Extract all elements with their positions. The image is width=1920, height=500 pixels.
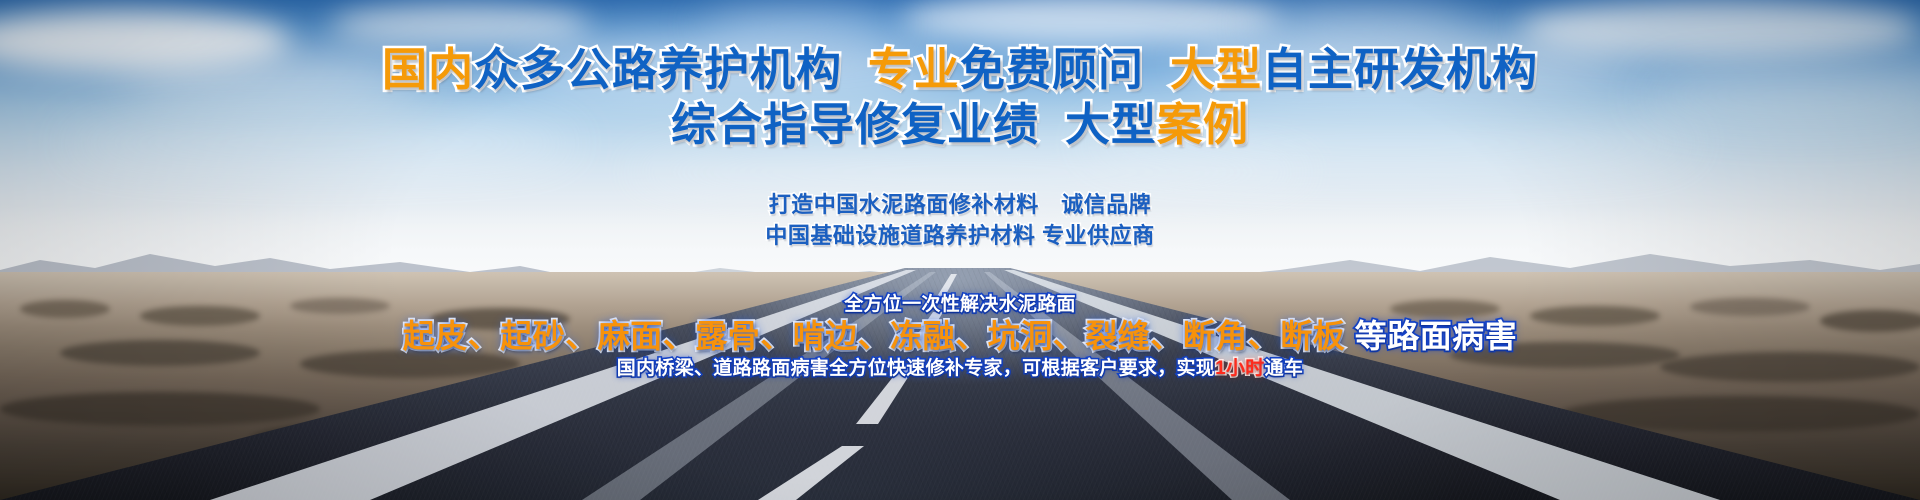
subhead-gap-1 xyxy=(1039,192,1062,217)
cloud-3 xyxy=(330,4,590,46)
road-text-seg-3b: 通车 xyxy=(1265,358,1304,379)
subhead-line-2: 中国基础设施道路养护材料 专业供应商 xyxy=(0,221,1920,251)
headline-seg-zonghe: 综合指导修复业绩 xyxy=(671,99,1039,150)
cloud-8 xyxy=(1250,8,1470,42)
headline-seg-zhongduo: 众多公路养护机构 xyxy=(474,44,842,95)
subhead-seg-1a: 打造中国水泥路面修补材料 xyxy=(769,192,1039,217)
headline-seg-anli: 案例 xyxy=(1157,99,1249,150)
headline-seg-mianfei: 免费顾问 xyxy=(960,44,1144,95)
headline-seg-zhuanye: 专业 xyxy=(868,44,960,95)
road-text-line-2-diseases: 起皮、起砂、麻面、露骨、啃边、冻融、坑洞、裂缝、断角、断板 等路面病害 xyxy=(0,315,1920,357)
subhead-line-1: 打造中国水泥路面修补材料 诚信品牌 xyxy=(0,190,1920,220)
headline-line-2: 综合指导修复业绩大型案例 xyxy=(0,99,1920,151)
disease-list-suffix: 等路面病害 xyxy=(1345,318,1517,354)
road-text-seg-quanfangwei: 全方位一次性解决水泥路面 xyxy=(844,294,1076,315)
road-text-line-3: 国内桥梁、道路路面病害全方位快速修补专家，可根据客户要求，实现1小时通车 xyxy=(0,356,1920,382)
headline-seg-daxing: 大型 xyxy=(1170,44,1262,95)
cloud-13 xyxy=(700,10,900,40)
highlight-one-hour: 1小时 xyxy=(1215,358,1264,379)
subhead-seg-1b: 诚信品牌 xyxy=(1061,192,1151,217)
headline-line-1: 国内众多公路养护机构专业免费顾问大型自主研发机构 xyxy=(0,44,1920,96)
headline-seg-daxing2: 大型 xyxy=(1065,99,1157,150)
promo-banner: 国内众多公路养护机构专业免费顾问大型自主研发机构 综合指导修复业绩大型案例 打造… xyxy=(0,0,1920,500)
subhead-seg-2a: 中国基础设施道路养护材料 xyxy=(765,223,1035,248)
cloud-11 xyxy=(620,150,1320,194)
subhead-seg-2b: 专业供应商 xyxy=(1042,223,1155,248)
road-text-seg-3a: 国内桥梁、道路路面病害全方位快速修补专家，可根据客户要求，实现 xyxy=(617,358,1215,379)
headline-seg-guonei: 国内 xyxy=(382,44,474,95)
disease-list: 起皮、起砂、麻面、露骨、啃边、冻融、坑洞、裂缝、断角、断板 xyxy=(403,318,1346,354)
headline-seg-zizhu: 自主研发机构 xyxy=(1262,44,1538,95)
